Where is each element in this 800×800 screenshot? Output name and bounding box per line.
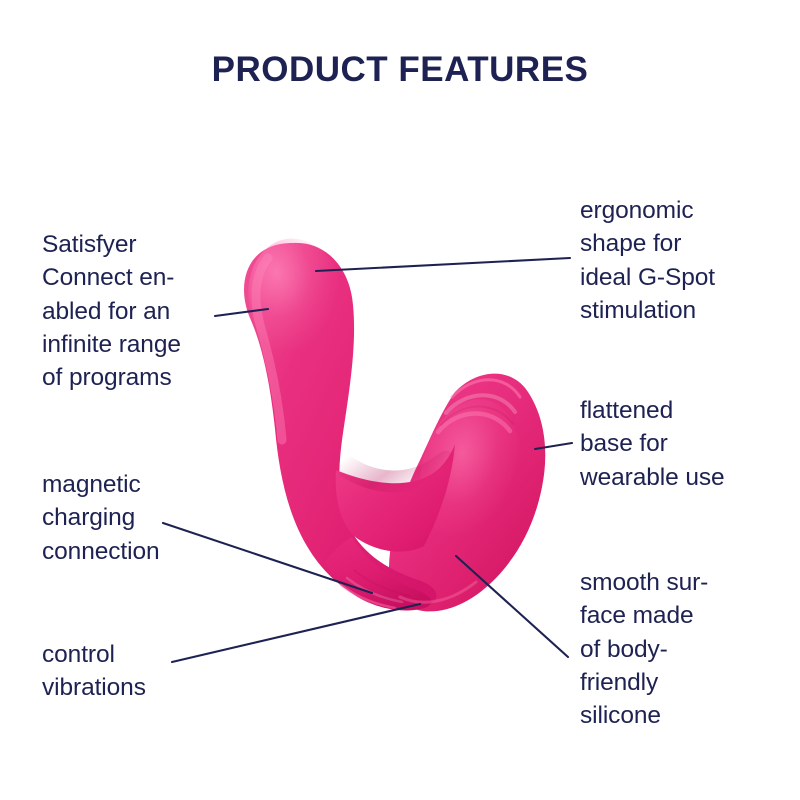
callout-line: infinite range bbox=[42, 328, 262, 361]
callout-line: ergonomic bbox=[580, 194, 795, 227]
callout-smooth-surface: smooth sur- face made of body- friendly … bbox=[580, 566, 795, 733]
callout-line: shape for bbox=[580, 227, 795, 260]
callout-line: flattened bbox=[580, 394, 795, 427]
callout-magnetic-charging: magnetic charging connection bbox=[42, 468, 242, 568]
callout-line: of body- bbox=[580, 633, 795, 666]
callout-line: base for bbox=[580, 427, 795, 460]
callout-line: of programs bbox=[42, 361, 262, 394]
callout-line: abled for an bbox=[42, 295, 262, 328]
callout-line: connection bbox=[42, 535, 242, 568]
callout-line: ideal G-Spot bbox=[580, 261, 795, 294]
callout-flattened-base: flattened base for wearable use bbox=[580, 394, 795, 494]
callout-ergonomic-shape: ergonomic shape for ideal G-Spot stimula… bbox=[580, 194, 795, 327]
callout-line: stimulation bbox=[580, 294, 795, 327]
callout-satisfyer-connect: Satisfyer Connect en- abled for an infin… bbox=[42, 228, 262, 395]
leader-ergonomic bbox=[316, 258, 570, 271]
callout-line: wearable use bbox=[580, 461, 795, 494]
callout-line: control bbox=[42, 638, 242, 671]
callout-line: Satisfyer bbox=[42, 228, 262, 261]
callout-control-vibrations: control vibrations bbox=[42, 638, 242, 705]
leader-smooth bbox=[456, 556, 568, 657]
callout-line: charging bbox=[42, 501, 242, 534]
callout-line: Connect en- bbox=[42, 261, 262, 294]
callout-line: friendly bbox=[580, 666, 795, 699]
callout-line: smooth sur- bbox=[580, 566, 795, 599]
callout-line: magnetic bbox=[42, 468, 242, 501]
callout-line: silicone bbox=[580, 699, 795, 732]
product-illustration bbox=[237, 229, 545, 611]
valley-shadow bbox=[340, 462, 446, 482]
product-features-infographic: PRODUCT FEATURES Satisfyer Connect en- a… bbox=[0, 0, 800, 800]
callout-line: face made bbox=[580, 599, 795, 632]
page-title: PRODUCT FEATURES bbox=[0, 50, 800, 90]
callout-line: vibrations bbox=[42, 671, 242, 704]
